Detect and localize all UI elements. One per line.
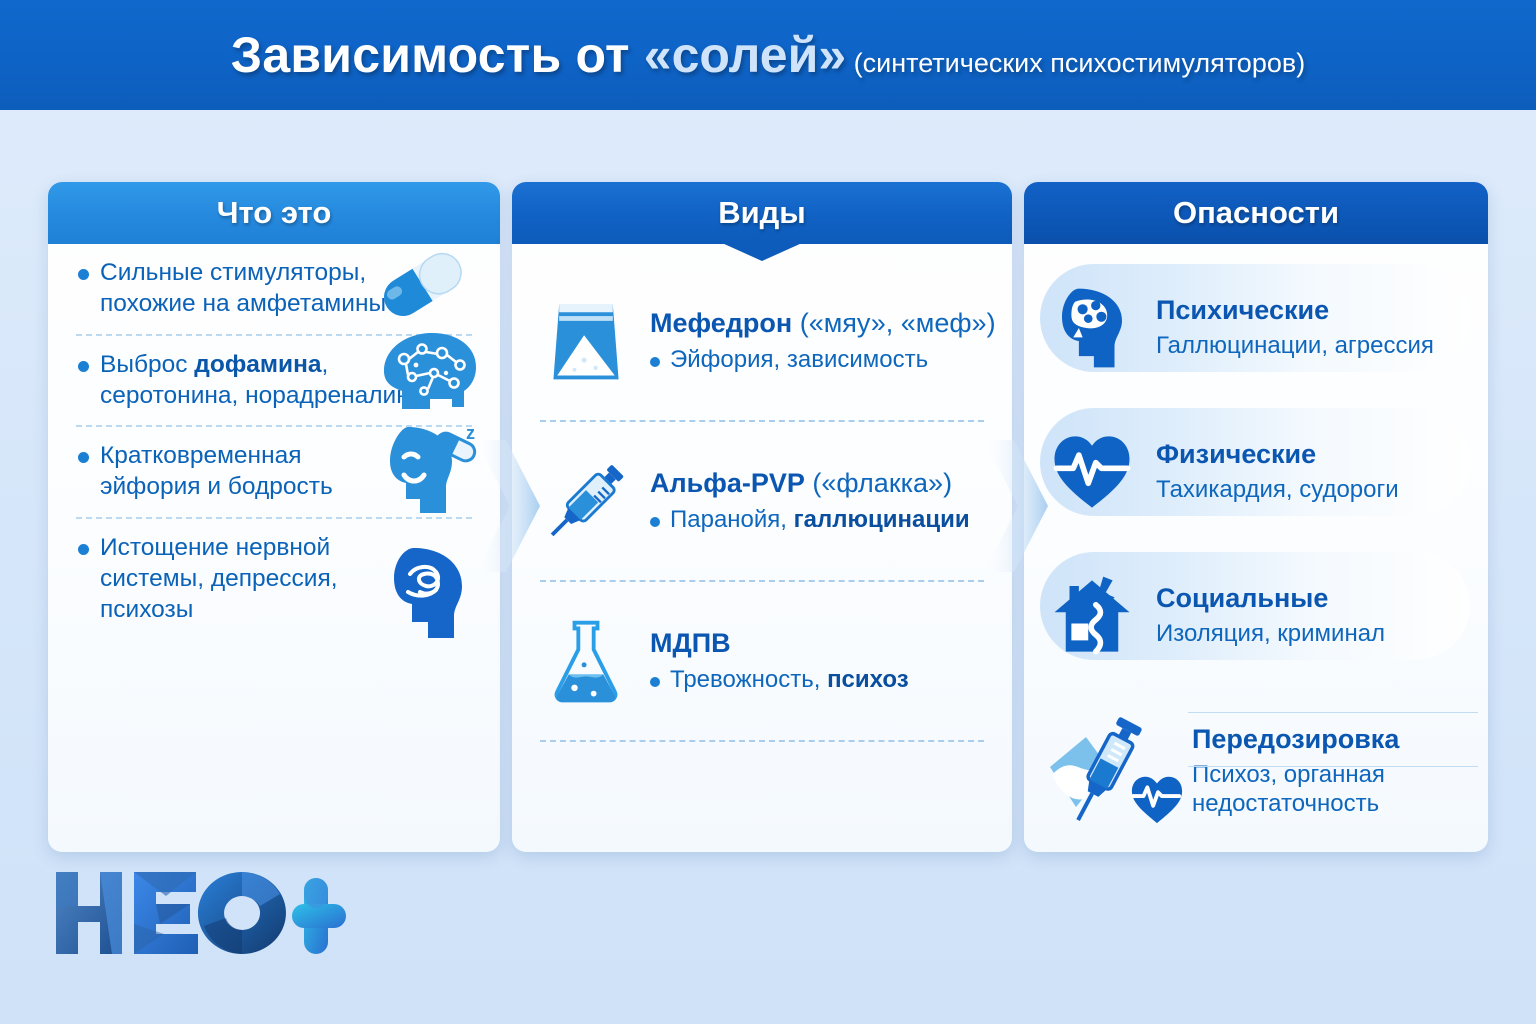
bullet-dot-icon	[78, 361, 89, 372]
danger-title: Психические	[1156, 295, 1470, 326]
row-divider	[540, 580, 984, 582]
list-item-text: Физические Тахикардия, судороги	[1156, 439, 1470, 505]
overdose-text: Передозировка Психоз, органная недостато…	[1192, 724, 1488, 819]
column-header-types: Виды	[512, 182, 1012, 244]
list-item-line1: Истощение нервной	[100, 534, 330, 561]
list-item: Выброс дофамина, серотонина, норадренали…	[48, 336, 500, 426]
type-alias: («мяу», «меф»)	[792, 308, 995, 338]
list-item-text: Психические Галлюцинации, агрессия	[1156, 295, 1470, 361]
heart-pulse-icon	[1044, 424, 1140, 520]
list-item-line1: Сильные стимуляторы,	[100, 259, 366, 286]
type-alias: («флакка»)	[805, 468, 952, 498]
flask-icon	[538, 609, 634, 713]
title-quoted: «солей»	[644, 27, 846, 83]
overdose-divider-top	[1188, 712, 1478, 713]
page-title: Зависимость от «солей» (синтетических пс…	[231, 26, 1305, 84]
overdose-desc-line2: недостаточность	[1192, 790, 1379, 817]
list-item-line2: похожие на амфетамины	[100, 290, 386, 317]
list-item-text: Социальные Изоляция, криминал	[1156, 583, 1470, 649]
column-header-label: Виды	[718, 195, 806, 231]
column-body-types: Мефедрон («мяу», «меф») Эйфория, зависим…	[512, 244, 1012, 852]
type-name: Мефедрон	[650, 308, 792, 338]
head-brain-icon	[1044, 280, 1140, 376]
list-item: Альфа-PVP («флакка») Паранойя, галлюцина…	[512, 426, 1012, 576]
bullet-dot-icon	[650, 677, 660, 687]
list-item: Физические Тахикардия, судороги	[1024, 400, 1488, 544]
type-effect: Тревожность, психоз	[650, 666, 988, 694]
chevron-right-icon-2	[984, 432, 1050, 580]
list-item-line1: Кратковременная	[100, 442, 302, 469]
overdose-desc: Психоз, органная недостаточность	[1192, 760, 1488, 819]
broken-house-icon	[1044, 568, 1140, 664]
overdose-desc-line1: Психоз, органная	[1192, 761, 1385, 788]
row-divider	[540, 420, 984, 422]
list-item-text: МДПВ Тревожность, психоз	[650, 628, 988, 694]
list-item: Психические Галлюцинации, агрессия	[1024, 256, 1488, 400]
column-header-what-it-is: Что это	[48, 182, 500, 244]
bullet-dot-icon	[78, 269, 89, 280]
list-item: Истощение нервной системы, депрессия, пс…	[48, 519, 500, 640]
danger-title: Физические	[1156, 439, 1470, 470]
list-item-line2: серотонина, норадреналина	[100, 382, 423, 409]
neo-plus-logo[interactable]	[46, 864, 346, 970]
type-effect-bold: галлюцинации	[794, 506, 970, 533]
danger-desc: Тахикардия, судороги	[1156, 476, 1470, 505]
bullet-dot-icon	[78, 452, 89, 463]
bullet-dot-icon	[650, 357, 660, 367]
type-title: МДПВ	[650, 628, 988, 659]
infographic-canvas: Зависимость от «солей» (синтетических пс…	[0, 0, 1536, 1024]
overdose-divider-mid	[1188, 766, 1478, 767]
danger-desc: Изоляция, криминал	[1156, 620, 1470, 649]
list-item: Кратковременная эйфория и бодрость z	[48, 427, 500, 517]
powder-bag-icon	[538, 289, 634, 393]
title-subtitle: (синтетических психостимуляторов)	[846, 48, 1305, 78]
list-item-text: Альфа-PVP («флакка») Паранойя, галлюцина…	[650, 468, 988, 534]
type-title: Альфа-PVP («флакка»)	[650, 468, 988, 499]
title-bar: Зависимость от «солей» (синтетических пс…	[0, 0, 1536, 110]
danger-title: Социальные	[1156, 583, 1470, 614]
list-item-line1: Выброс дофамина,	[100, 351, 328, 378]
list-item: Социальные Изоляция, криминал	[1024, 544, 1488, 688]
column-body-what-it-is: Сильные стимуляторы, похожие на амфетами…	[48, 244, 500, 852]
overdose-block: Передозировка Психоз, органная недостато…	[1024, 690, 1488, 852]
type-effect: Эйфория, зависимость	[650, 346, 996, 374]
type-name: Альфа-PVP	[650, 468, 805, 498]
type-effect: Паранойя, галлюцинации	[650, 506, 988, 534]
type-effect-plain: Тревожность,	[670, 666, 827, 693]
overdose-title: Передозировка	[1192, 724, 1488, 755]
column-header-label: Что это	[217, 195, 332, 231]
overdose-icons	[1042, 711, 1184, 831]
list-item: Мефедрон («мяу», «меф») Эйфория, зависим…	[512, 266, 1012, 416]
row-divider	[540, 740, 984, 742]
column-types: Виды Мефедро	[512, 182, 1012, 852]
list-item: Сильные стимуляторы, похожие на амфетами…	[48, 244, 500, 334]
list-item: МДПВ Тревожность, психоз	[512, 586, 1012, 736]
type-title: Мефедрон («мяу», «меф»)	[650, 308, 996, 339]
type-effect-plain: Паранойя,	[670, 506, 794, 533]
syringe-icon	[538, 449, 634, 553]
heart-pulse-small-icon	[1128, 771, 1186, 827]
list-item-text: Истощение нервной системы, депрессия, пс…	[100, 533, 430, 626]
type-effect-plain: Эйфория, зависимость	[670, 346, 928, 373]
list-item-line2: эйфория и бодрость	[100, 473, 333, 500]
list-item-text: Сильные стимуляторы, похожие на амфетами…	[100, 258, 386, 320]
bullet-dot-icon	[78, 544, 89, 555]
list-item-text: Выброс дофамина, серотонина, норадренали…	[100, 350, 423, 412]
column-header-label: Опасности	[1173, 195, 1339, 231]
title-main: Зависимость от	[231, 27, 644, 83]
type-name: МДПВ	[650, 628, 731, 658]
list-item-line2: системы, депрессия, психозы	[100, 565, 338, 623]
column-what-it-is: Что это Сильные стимуляторы, похожие на …	[48, 182, 500, 852]
type-effect-bold: психоз	[827, 666, 909, 693]
danger-desc: Галлюцинации, агрессия	[1156, 332, 1470, 361]
column-header-dangers: Опасности	[1024, 182, 1488, 244]
list-item-text: Мефедрон («мяу», «меф») Эйфория, зависим…	[650, 308, 996, 374]
chevron-right-icon-1	[476, 432, 542, 580]
list-item-text: Кратковременная эйфория и бодрость	[100, 441, 333, 503]
bullet-dot-icon	[650, 517, 660, 527]
